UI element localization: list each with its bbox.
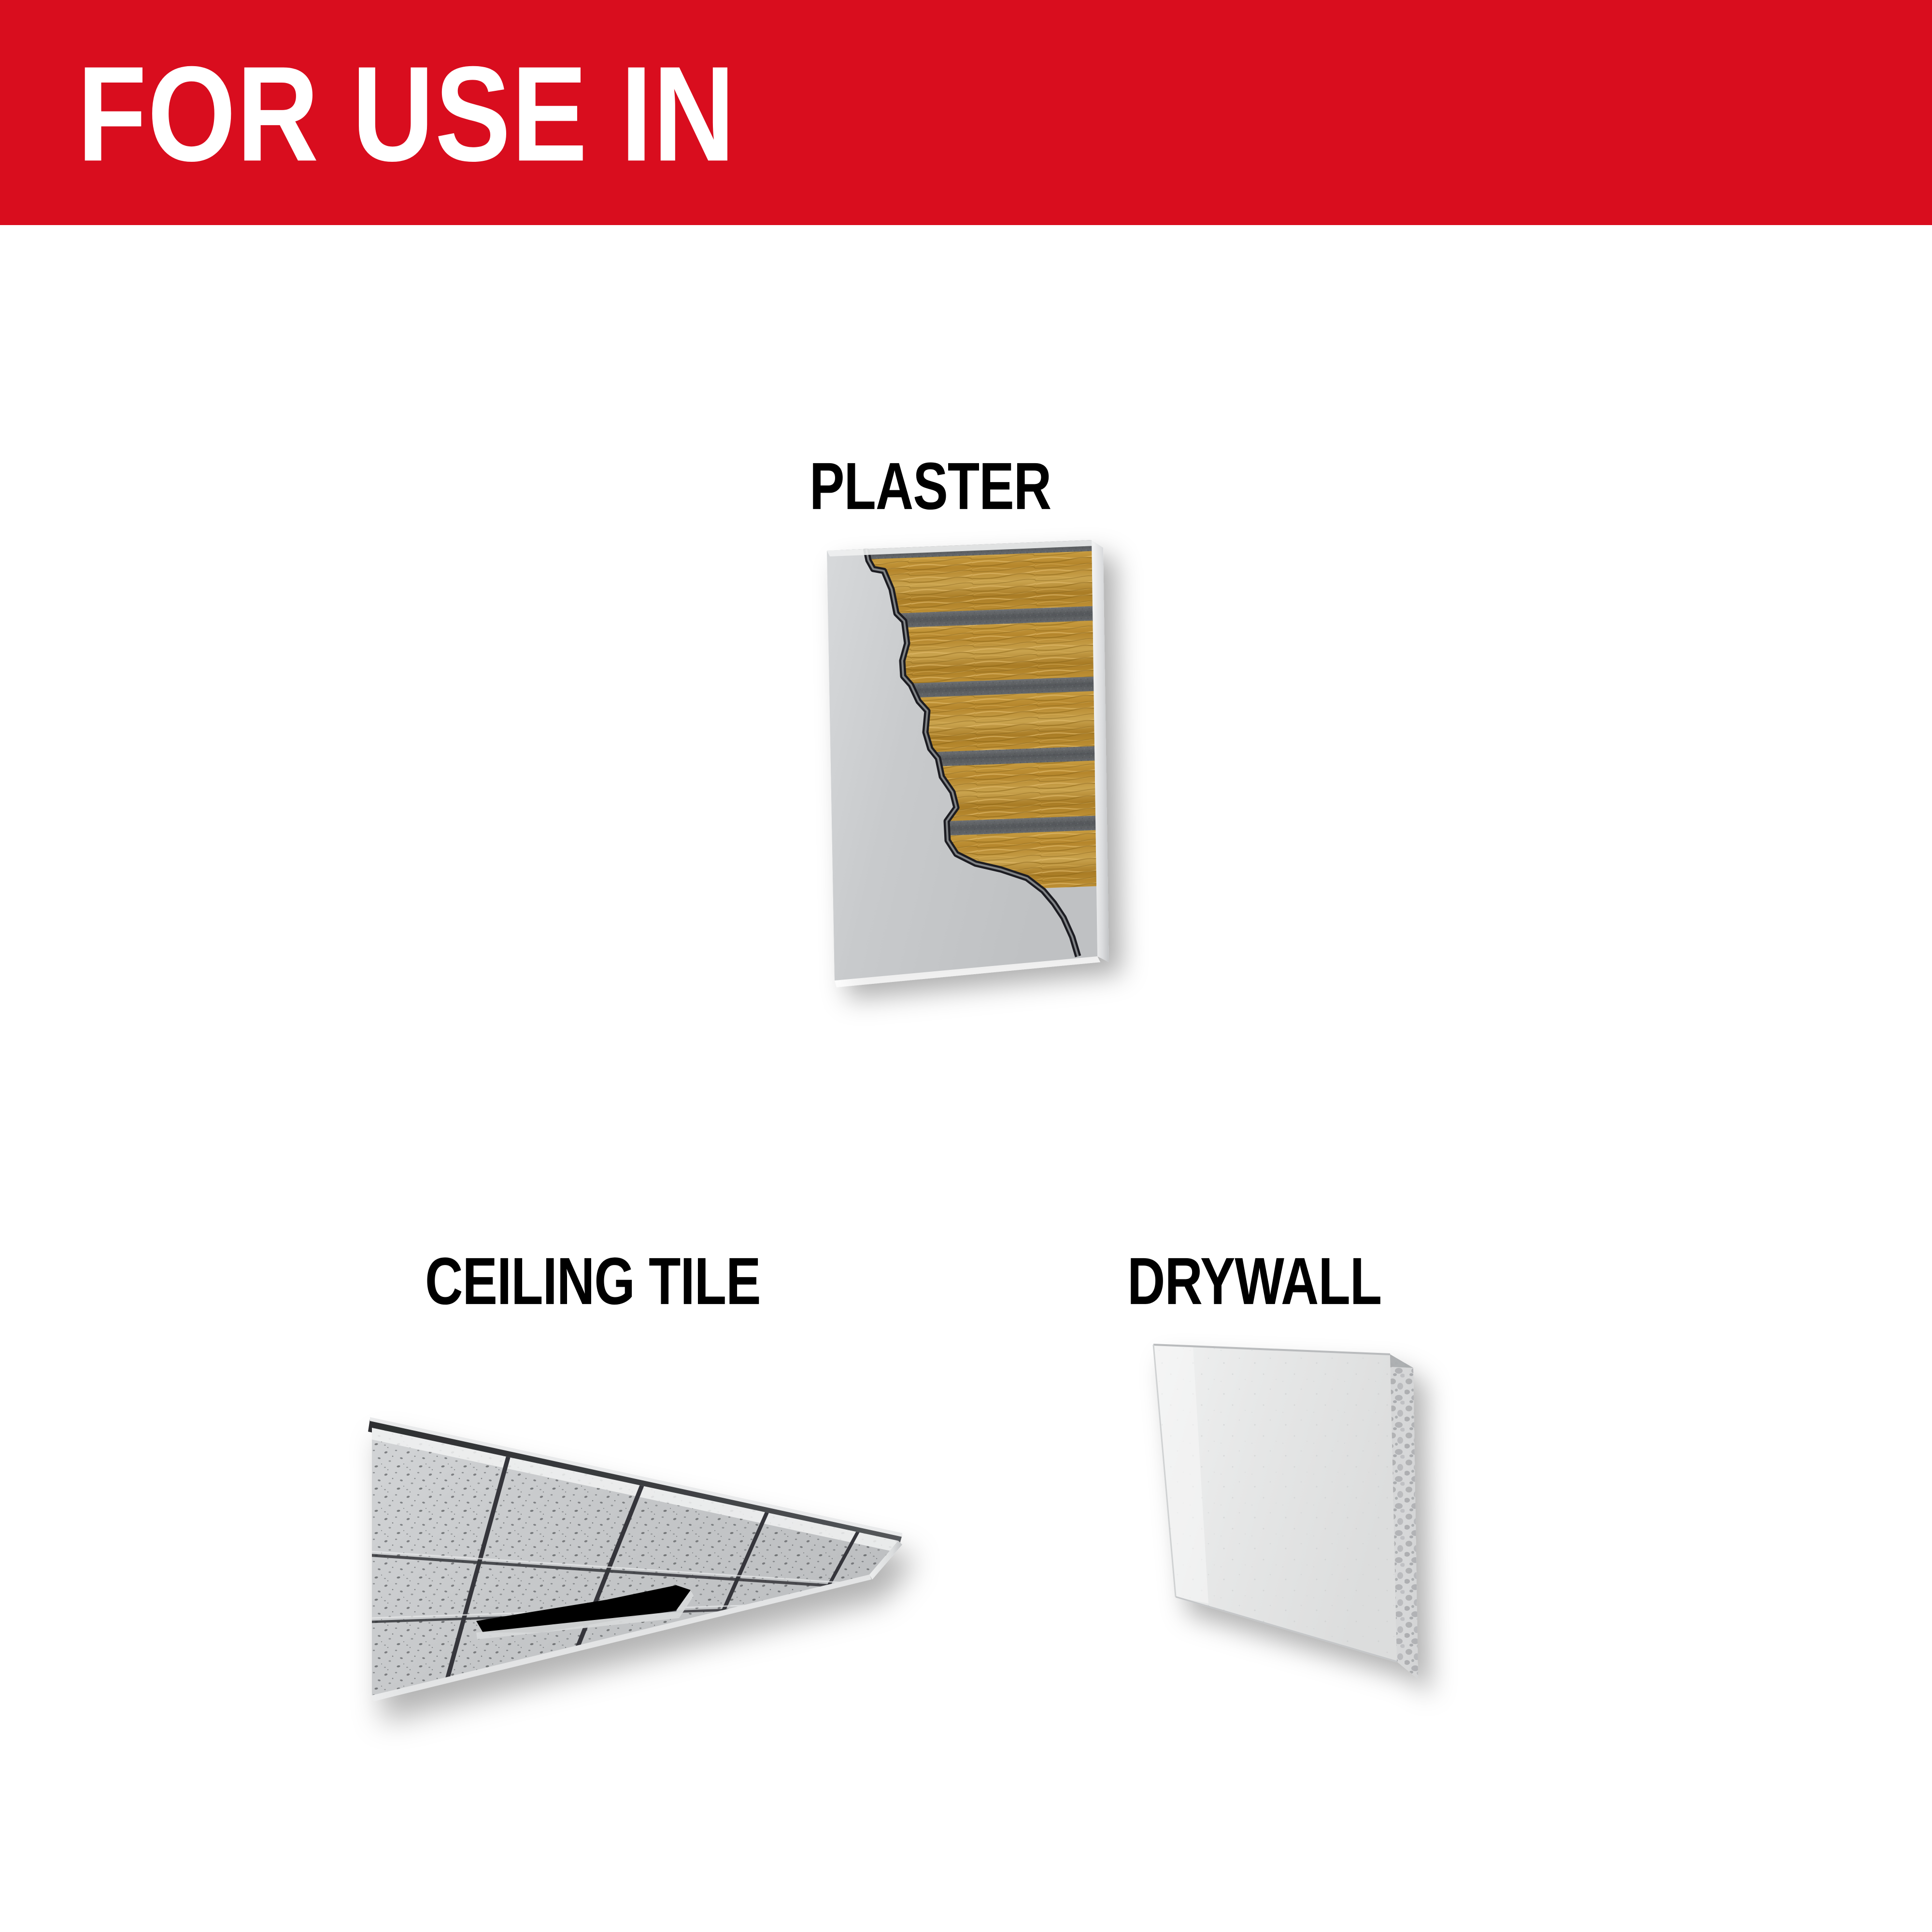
ceiling-tile-grid-illustration [338, 1381, 947, 1768]
section-label-plaster: PLASTER [810, 453, 1051, 520]
drywall-sheet-illustration [1125, 1323, 1463, 1739]
section-label-drywall: DRYWALL [1127, 1248, 1381, 1315]
page-title: FOR USE IN [77, 46, 736, 182]
header-banner: FOR USE IN [0, 0, 1932, 225]
plaster-panel-illustration [782, 531, 1130, 995]
section-label-ceiling-tile: CEILING TILE [425, 1248, 761, 1315]
